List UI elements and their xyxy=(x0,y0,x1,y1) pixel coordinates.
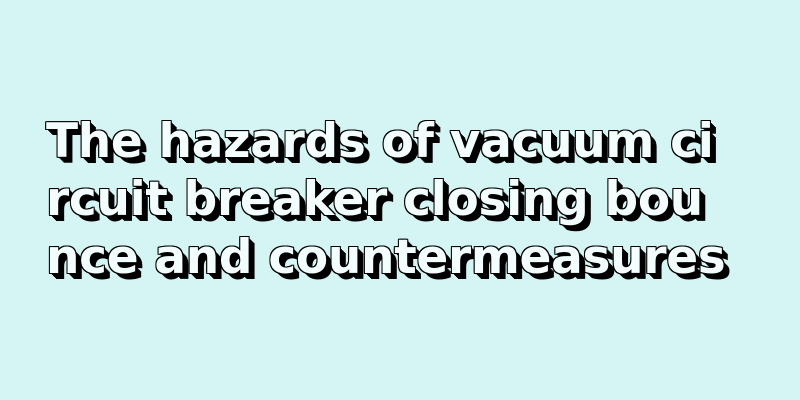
headline-line-2: rcuit breaker closing bou xyxy=(46,171,766,229)
headline-block: The hazards of vacuum ci rcuit breaker c… xyxy=(46,113,766,287)
title-card: The hazards of vacuum ci rcuit breaker c… xyxy=(0,0,800,400)
headline-line-1: The hazards of vacuum ci xyxy=(46,113,766,171)
headline-line-3: nce and countermeasures xyxy=(46,229,766,287)
